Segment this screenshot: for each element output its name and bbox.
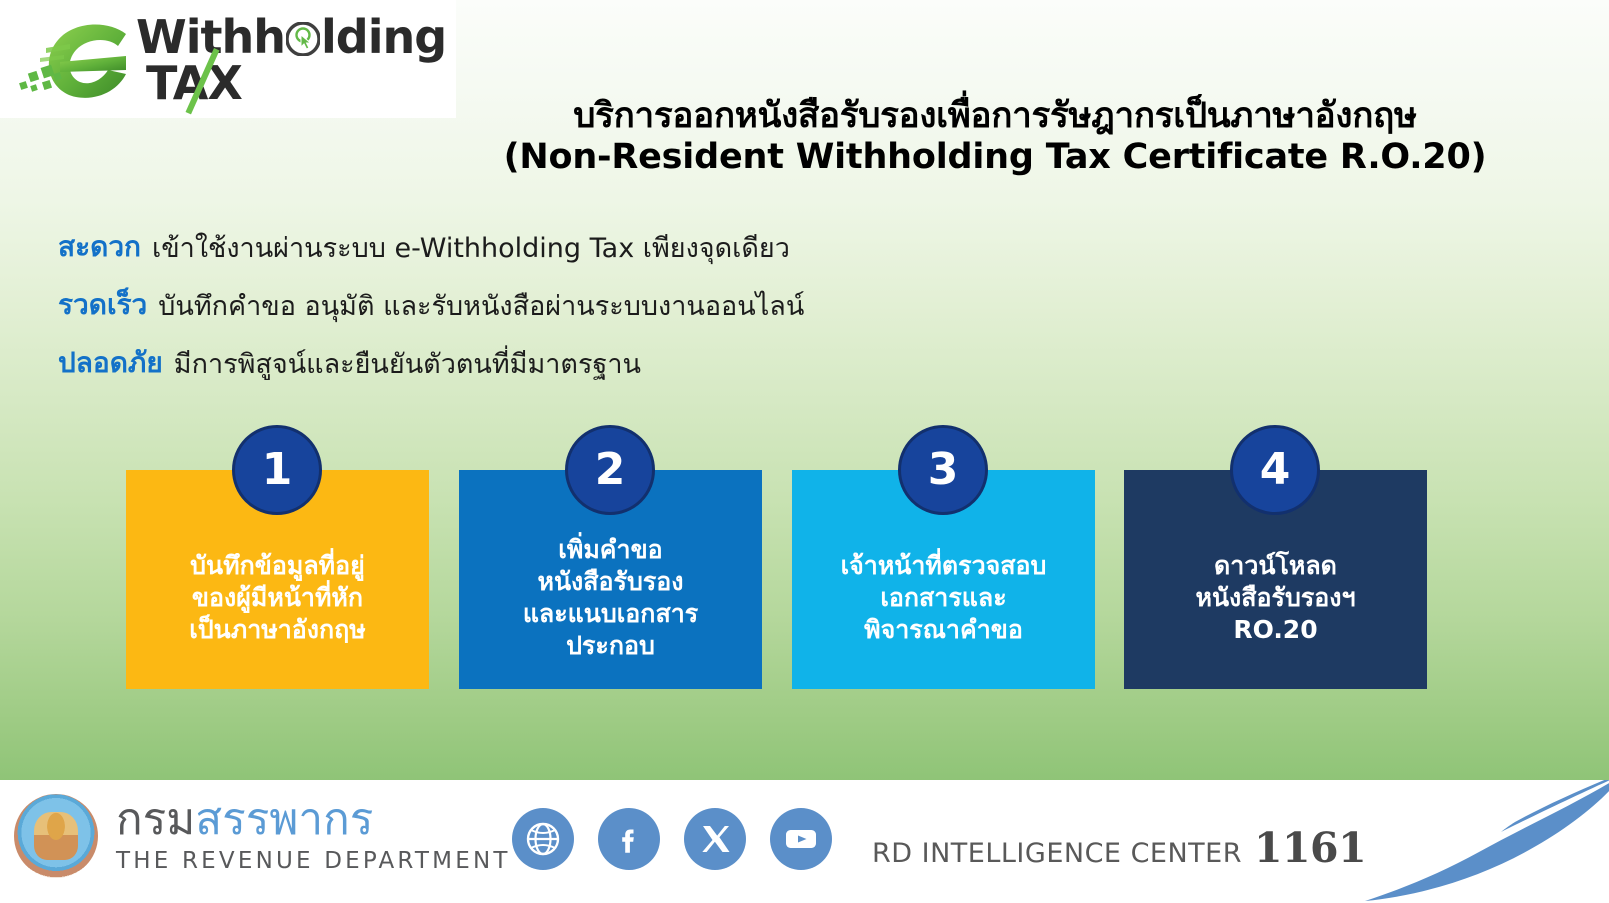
youtube-icon[interactable] (770, 808, 832, 870)
call-center-label: RD INTELLIGENCE CENTER (872, 838, 1242, 869)
title-thai: บริการออกหนังสือรับรองเพื่อการรัษฎากรเป็… (390, 96, 1600, 137)
list-item: ปลอดภัย มีการพิสูจน์และยืนยันตัวตนที่มีม… (58, 334, 1058, 392)
list-item: รวดเร็ว บันทึกคำขอ อนุมัติ และรับหนังสือ… (58, 276, 1058, 334)
benefit-keyword: ปลอดภัย (58, 341, 163, 385)
step-label: เจ้าหน้าที่ตรวจสอบ เอกสารและ พิจารณาคำขอ (841, 550, 1047, 646)
process-steps: บันทึกข้อมูลที่อยู่ ของผู้มีหน้าที่หัก เ… (0, 425, 1609, 695)
benefit-text: บันทึกคำขอ อนุมัติ และรับหนังสือผ่านระบบ… (158, 284, 804, 327)
infographic-poster: Withhlding TAX บริการออกหนังสือรับรองเพื… (0, 0, 1609, 903)
benefit-text: มีการพิสูจน์และยืนยันตัวตนที่มีมาตรฐาน (174, 342, 641, 385)
call-center-number: 1161 (1254, 824, 1366, 872)
footer-bar: กรมสรรพากร THE REVENUE DEPARTMENT (0, 780, 1609, 903)
youtube-play-icon (781, 819, 821, 859)
department-name-thai: กรมสรรพากร (116, 798, 511, 842)
benefit-text: เข้าใช้งานผ่านระบบ e-Withholding Tax เพี… (152, 226, 790, 269)
revenue-department-seal-icon (14, 794, 98, 878)
revenue-department-logo: กรมสรรพากร THE REVENUE DEPARTMENT (14, 794, 511, 878)
logo-panel: Withhlding TAX (0, 0, 456, 118)
benefit-keyword: สะดวก (58, 225, 141, 269)
step-number-badge-2: 2 (565, 425, 655, 515)
step-label: ดาวน์โหลด หนังสือรับรองฯ RO.20 (1195, 550, 1355, 646)
step-label: เพิ่มคำขอ หนังสือรับรอง และแนบเอกสาร ประ… (523, 534, 698, 662)
benefit-keyword: รวดเร็ว (58, 283, 147, 327)
rd-intelligence-center: RD INTELLIGENCE CENTER 1161 (872, 824, 1366, 872)
list-item: สะดวก เข้าใช้งานผ่านระบบ e-Withholding T… (58, 218, 1058, 276)
pixel-dots-decoration (18, 60, 64, 92)
social-links (512, 808, 832, 870)
touch-pointer-icon (286, 22, 320, 56)
facebook-f-icon (610, 820, 648, 858)
benefits-list: สะดวก เข้าใช้งานผ่านระบบ e-Withholding T… (58, 218, 1058, 392)
department-name-english: THE REVENUE DEPARTMENT (116, 848, 511, 874)
page-title: บริการออกหนังสือรับรองเพื่อการรัษฎากรเป็… (390, 96, 1600, 179)
blue-swoosh-decoration (1329, 780, 1609, 903)
department-name-block: กรมสรรพากร THE REVENUE DEPARTMENT (116, 798, 511, 874)
step-number-badge-4: 4 (1230, 425, 1320, 515)
globe-icon (524, 820, 562, 858)
website-icon[interactable] (512, 808, 574, 870)
facebook-icon[interactable] (598, 808, 660, 870)
step-label: บันทึกข้อมูลที่อยู่ ของผู้มีหน้าที่หัก เ… (189, 550, 366, 646)
step-number-badge-1: 1 (232, 425, 322, 515)
title-english: (Non-Resident Withholding Tax Certificat… (390, 137, 1600, 178)
step-number-badge-3: 3 (898, 425, 988, 515)
e-withholding-tax-logo: Withhlding TAX (18, 8, 448, 112)
x-twitter-icon[interactable] (684, 808, 746, 870)
x-logo-icon (698, 822, 732, 856)
